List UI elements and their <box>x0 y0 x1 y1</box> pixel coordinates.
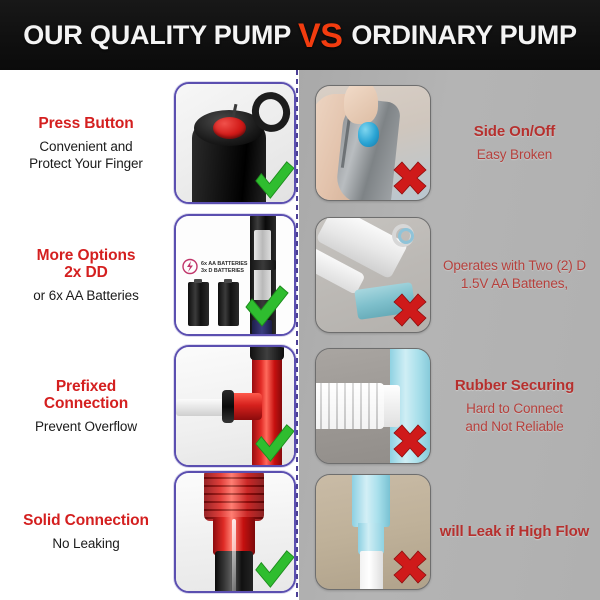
left-row-3-subtext: Prevent Overflow <box>4 418 168 435</box>
left-row-3-heading-line2: Connection <box>4 395 168 412</box>
right-row-2-text: Operates with Two (2) D 1.5V AA Battenes… <box>431 257 600 293</box>
right-row-battery-operation: Operates with Two (2) D 1.5V AA Battenes… <box>299 211 600 339</box>
right-row-4-image-card[interactable] <box>315 474 431 590</box>
left-row-1-heading: Press Button <box>4 115 168 132</box>
pump-cap-with-red-press-button-photo <box>176 84 294 202</box>
left-row-2-heading-line2: 2x DD <box>4 264 168 281</box>
left-row-3-heading: Prefixed Connection <box>4 378 168 412</box>
left-row-3-heading-line1: Prefixed <box>4 378 168 395</box>
left-row-1-subtext: Convenient and Protect Your Finger <box>4 138 168 172</box>
left-row-4-subtext: No Leaking <box>4 535 168 552</box>
left-row-4-heading: Solid Connection <box>4 512 168 529</box>
right-row-1-image-card[interactable] <box>315 85 431 201</box>
right-row-2-subtext-line2: 1.5V AA Battenes, <box>435 275 594 293</box>
header-bar: OUR QUALITY PUMP VS ORDINARY PUMP <box>0 0 600 70</box>
left-row-2-subtext: or 6x AA Batteries <box>4 287 168 304</box>
left-row-3-image-card[interactable] <box>174 345 296 467</box>
vertical-dashed-divider <box>296 70 298 600</box>
white-and-blue-rubber-connection-photo <box>316 349 430 463</box>
left-row-1-subtext-line2: Protect Your Finger <box>4 155 168 172</box>
left-row-more-options: More Options 2x DD or 6x AA Batteries 6x… <box>0 211 296 339</box>
left-row-2-image-card[interactable]: 6x AA BATTERIES 3x D BATTERIES <box>174 214 296 336</box>
right-row-3-text: Rubber Securing Hard to Connect and Not … <box>431 377 600 436</box>
red-valve-prefixed-connection-photo <box>176 347 294 465</box>
right-row-2-image-card[interactable] <box>315 217 431 333</box>
left-row-3-text: Prefixed Connection Prevent Overflow <box>0 378 168 435</box>
right-row-1-subtext: Easy Broken <box>435 146 594 164</box>
left-row-4-text: Solid Connection No Leaking <box>0 512 168 552</box>
blue-nozzle-leaking-photo <box>316 475 430 589</box>
svg-text:3x D BATTERIES: 3x D BATTERIES <box>201 268 244 274</box>
header-right-title: ORDINARY PUMP <box>351 20 576 51</box>
left-row-1-text: Press Button Convenient and Protect Your… <box>0 115 168 172</box>
comparison-infographic: OUR QUALITY PUMP VS ORDINARY PUMP Press … <box>0 0 600 600</box>
hand-holding-gray-pump-blue-side-switch-photo <box>316 86 430 200</box>
left-column-our-quality-pump: Press Button Convenient and Protect Your… <box>0 70 297 600</box>
header-left-title: OUR QUALITY PUMP <box>23 20 291 51</box>
header-vs-label: VS <box>291 17 351 56</box>
right-row-3-image-card[interactable] <box>315 348 431 464</box>
header-title-group: OUR QUALITY PUMP VS ORDINARY PUMP <box>0 0 600 70</box>
left-row-2-heading-line1: More Options <box>4 247 168 264</box>
left-row-2-heading: More Options 2x DD <box>4 247 168 281</box>
white-pump-body-and-blue-battery-photo <box>316 218 430 332</box>
right-row-1-heading: Side On/Off <box>435 123 594 141</box>
left-row-2-text: More Options 2x DD or 6x AA Batteries <box>0 247 168 304</box>
left-row-press-button: Press Button Convenient and Protect Your… <box>0 78 296 208</box>
svg-text:6x AA BATTERIES: 6x AA BATTERIES <box>201 261 248 267</box>
right-row-2-subtext-line1: Operates with Two (2) D <box>435 257 594 275</box>
right-row-leak-high-flow: will Leak if High Flow <box>299 473 600 591</box>
left-row-1-subtext-line1: Convenient and <box>4 138 168 155</box>
right-column-ordinary-pump: Side On/Off Easy Broken Operates with <box>299 70 600 600</box>
red-ribbed-tube-solid-connection-photo <box>176 473 294 591</box>
d-batteries-and-black-pump-shaft-photo: 6x AA BATTERIES 3x D BATTERIES <box>176 216 294 334</box>
right-row-rubber-securing: Rubber Securing Hard to Connect and Not … <box>299 342 600 470</box>
right-row-1-text: Side On/Off Easy Broken <box>431 123 600 164</box>
right-row-3-subtext-line1: Hard to Connect <box>435 400 594 418</box>
right-row-4-text: will Leak if High Flow <box>431 523 600 541</box>
left-row-4-image-card[interactable] <box>174 471 296 593</box>
left-row-prefixed-connection: Prefixed Connection Prevent Overflow <box>0 342 296 470</box>
right-row-3-subtext-line2: and Not Reliable <box>435 418 594 436</box>
right-row-side-on-off: Side On/Off Easy Broken <box>299 78 600 208</box>
right-row-4-heading: will Leak if High Flow <box>435 523 594 541</box>
right-row-3-heading: Rubber Securing <box>435 377 594 395</box>
left-row-1-image-card[interactable] <box>174 82 296 204</box>
left-row-solid-connection: Solid Connection No Leaking <box>0 473 296 591</box>
